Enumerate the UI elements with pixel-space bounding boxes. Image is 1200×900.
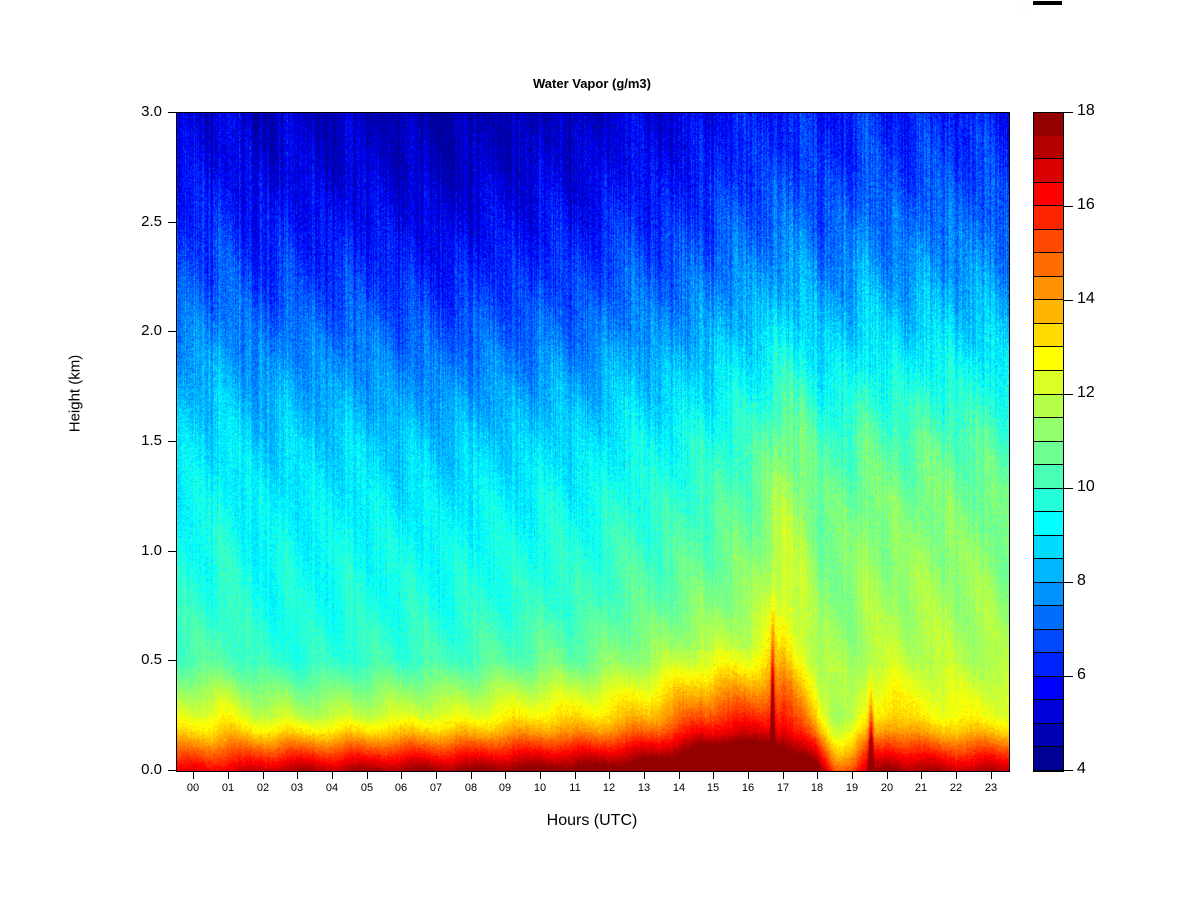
colorbar-tick-mark [1064,488,1073,489]
colorbar [1033,112,1064,772]
x-tick-label: 23 [971,782,1011,794]
x-tick-label: 22 [936,782,976,794]
colorbar-swatch [1034,159,1063,183]
heatmap-plot-area [176,112,1010,772]
colorbar-tick-label: 16 [1077,196,1117,214]
colorbar-swatch [1034,653,1063,677]
y-tick-label: 2.0 [102,322,162,339]
colorbar-swatch [1034,512,1063,536]
colorbar-swatch [1034,183,1063,207]
x-tick-mark [679,771,680,779]
y-tick-label: 0.0 [102,761,162,778]
colorbar-tick-mark [1064,206,1073,207]
x-tick-label: 03 [277,782,317,794]
colorbar-swatch [1034,677,1063,701]
page-title: Water Vapor (g/m3) [176,76,1008,91]
colorbar-swatch [1034,324,1063,348]
colorbar-swatch [1034,347,1063,371]
y-tick-label: 0.5 [102,651,162,668]
colorbar-tick-mark [1064,676,1073,677]
colorbar-tick-label: 4 [1077,760,1117,778]
colorbar-tick-label: 6 [1077,666,1117,684]
y-tick-mark [168,331,176,332]
colorbar-swatch [1034,300,1063,324]
x-tick-mark [991,771,992,779]
colorbar-tick-label: 8 [1077,572,1117,590]
y-tick-label: 1.5 [102,432,162,449]
x-tick-mark [609,771,610,779]
colorbar-swatch [1034,700,1063,724]
x-tick-mark [263,771,264,779]
x-tick-label: 10 [520,782,560,794]
colorbar-tick-label: 18 [1077,102,1117,120]
colorbar-tick-label: 14 [1077,290,1117,308]
x-tick-mark [852,771,853,779]
x-tick-mark [332,771,333,779]
x-tick-label: 00 [173,782,213,794]
x-tick-mark [783,771,784,779]
x-tick-mark [228,771,229,779]
colorbar-tick-mark [1064,112,1073,113]
colorbar-swatch [1034,206,1063,230]
x-tick-mark [748,771,749,779]
x-tick-label: 15 [693,782,733,794]
colorbar-swatch [1034,253,1063,277]
x-tick-mark [436,771,437,779]
colorbar-swatch [1034,489,1063,513]
colorbar-swatch [1034,277,1063,301]
x-tick-label: 01 [208,782,248,794]
x-tick-mark [367,771,368,779]
colorbar-swatch [1034,583,1063,607]
x-tick-mark [401,771,402,779]
decorative-corner-icon [1019,1,1031,13]
y-tick-mark [168,660,176,661]
colorbar-swatch [1034,465,1063,489]
y-tick-mark [168,112,176,113]
colorbar-tick-mark [1064,394,1073,395]
x-tick-mark [540,771,541,779]
y-tick-mark [168,551,176,552]
y-axis-label: Height (km) [67,324,84,464]
colorbar-tick-mark [1064,582,1073,583]
x-tick-label: 06 [381,782,421,794]
x-tick-label: 12 [589,782,629,794]
x-tick-mark [297,771,298,779]
y-tick-label: 3.0 [102,103,162,120]
colorbar-swatch [1034,724,1063,748]
x-tick-label: 19 [832,782,872,794]
x-tick-label: 16 [728,782,768,794]
colorbar-tick-mark [1064,300,1073,301]
y-tick-label: 2.5 [102,213,162,230]
colorbar-swatch [1034,136,1063,160]
y-tick-label: 1.0 [102,542,162,559]
x-tick-mark [921,771,922,779]
y-tick-mark [168,770,176,771]
colorbar-swatch [1034,606,1063,630]
colorbar-swatch [1034,630,1063,654]
x-tick-label: 07 [416,782,456,794]
colorbar-tick-label: 12 [1077,384,1117,402]
colorbar-swatch [1034,536,1063,560]
x-axis-label: Hours (UTC) [176,812,1008,830]
x-tick-label: 04 [312,782,352,794]
x-tick-mark [505,771,506,779]
heatmap-canvas [177,113,1009,771]
x-tick-mark [817,771,818,779]
x-tick-mark [471,771,472,779]
colorbar-tick-label: 10 [1077,478,1117,496]
colorbar-swatch [1034,230,1063,254]
corner-marker [1033,1,1062,5]
x-tick-mark [193,771,194,779]
x-tick-mark [644,771,645,779]
x-tick-label: 13 [624,782,664,794]
colorbar-swatch [1034,747,1063,771]
colorbar-tick-mark [1064,770,1073,771]
x-tick-mark [956,771,957,779]
x-tick-mark [575,771,576,779]
colorbar-swatch [1034,371,1063,395]
colorbar-swatch [1034,395,1063,419]
y-tick-mark [168,441,176,442]
x-tick-label: 09 [485,782,525,794]
colorbar-swatch [1034,113,1063,136]
x-tick-label: 18 [797,782,837,794]
x-tick-label: 21 [901,782,941,794]
colorbar-swatch [1034,442,1063,466]
colorbar-swatch [1034,418,1063,442]
colorbar-swatch [1034,559,1063,583]
y-tick-mark [168,222,176,223]
x-tick-mark [887,771,888,779]
x-tick-mark [713,771,714,779]
figure-canvas: Water Vapor (g/m3) Height (km) Hours (UT… [0,0,1200,900]
